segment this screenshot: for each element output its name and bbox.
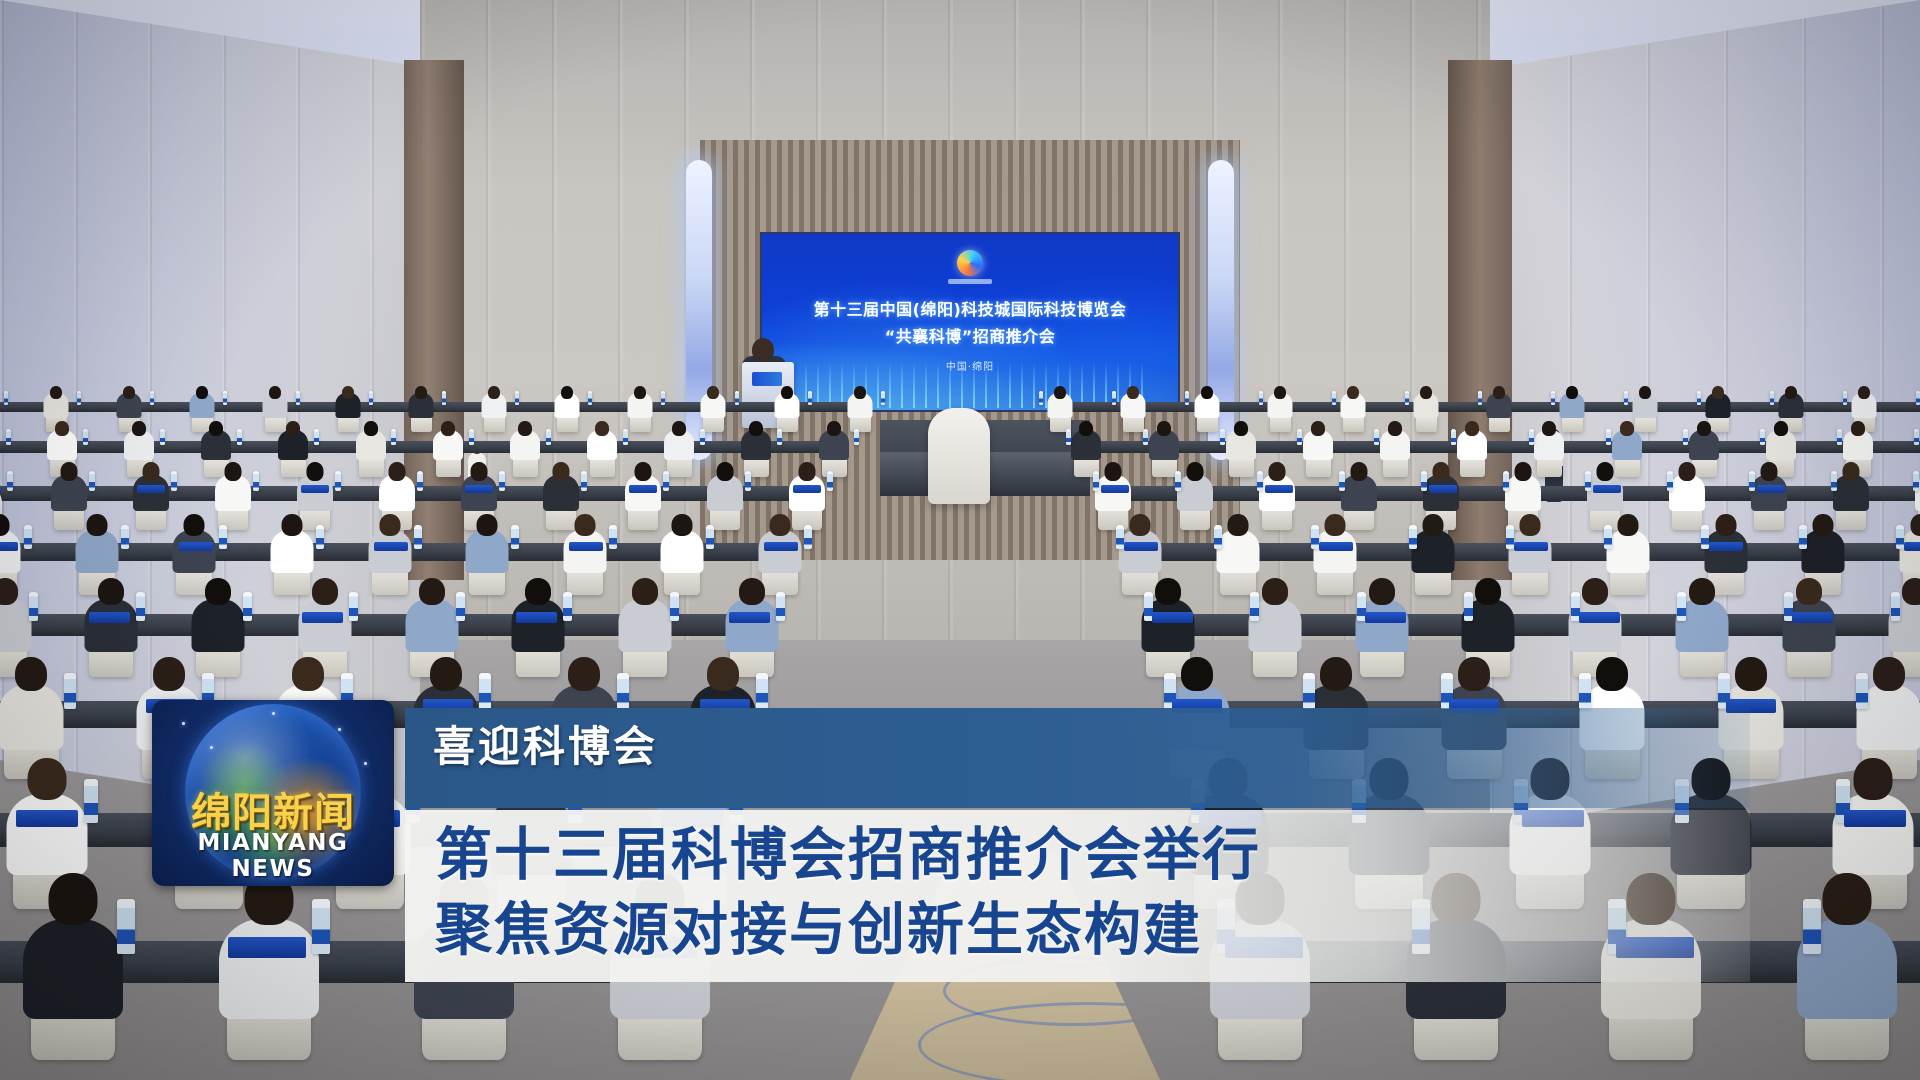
water-bottle — [1677, 592, 1686, 621]
audience-member — [1534, 421, 1564, 466]
screen-title-line1: 第十三届中国(绵阳)科技城国际科技博览会 — [762, 296, 1178, 320]
water-bottle — [160, 429, 165, 445]
table-nameplate — [16, 810, 78, 827]
audience-member — [1149, 421, 1179, 466]
table-nameplate — [1579, 612, 1620, 623]
audience-member — [76, 514, 119, 579]
water-bottle — [1914, 429, 1919, 445]
audience-member — [117, 386, 142, 424]
water-bottle — [1916, 391, 1920, 405]
audience-member — [1195, 386, 1220, 424]
water-bottle — [700, 429, 705, 445]
water-bottle — [456, 592, 465, 621]
table-nameplate — [228, 937, 306, 958]
water-bottle — [29, 592, 38, 621]
audience-member — [51, 462, 87, 517]
screen-location: 中国·绵阳 — [762, 358, 1178, 373]
water-bottle — [121, 525, 129, 549]
water-bottle — [1297, 429, 1302, 445]
water-bottle — [1185, 391, 1189, 405]
audience-member — [1414, 386, 1439, 424]
water-bottle — [136, 592, 145, 621]
water-bottle — [881, 391, 885, 405]
audience-member — [819, 421, 849, 466]
water-bottle — [777, 429, 782, 445]
audience-member — [1779, 386, 1804, 424]
audience-member — [1669, 462, 1705, 517]
audience-member — [44, 386, 69, 424]
table-nameplate — [1709, 542, 1743, 551]
table-nameplate — [0, 542, 18, 551]
water-bottle — [369, 391, 373, 405]
audience-member — [1303, 421, 1333, 466]
broadcast-frame: 第十三届中国(绵阳)科技城国际科技博览会 “共襄科博”招商推介会 中国·绵阳 — [0, 0, 1920, 1080]
audience-member — [379, 462, 415, 517]
water-bottle — [296, 391, 300, 405]
audience-member — [356, 421, 386, 466]
audience-member — [1560, 386, 1585, 424]
audience-member — [543, 462, 579, 517]
water-bottle — [77, 391, 81, 405]
water-bottle — [1799, 525, 1807, 549]
water-bottle — [442, 391, 446, 405]
audience-member — [552, 657, 617, 756]
table-nameplate — [569, 542, 603, 551]
water-bottle — [469, 429, 474, 445]
water-bottle — [1421, 471, 1427, 491]
water-bottle — [623, 429, 628, 445]
kebohui-emblem-icon — [957, 250, 983, 276]
screen-title-line2: “共襄科博”招商推介会 — [762, 323, 1178, 347]
table-nameplate — [1792, 612, 1833, 623]
table-nameplate — [1199, 810, 1261, 827]
water-bottle — [1311, 525, 1319, 549]
audience-member — [406, 578, 459, 658]
audience-member — [263, 386, 288, 424]
table-nameplate — [1514, 542, 1548, 551]
center-aisle-carpet — [850, 850, 1160, 1080]
water-bottle — [24, 525, 32, 549]
water-bottle — [1856, 673, 1868, 709]
water-bottle — [1891, 592, 1900, 621]
water-bottle — [1352, 779, 1366, 823]
table-nameplate — [1429, 485, 1457, 493]
audience-member — [482, 386, 507, 424]
table-nameplate — [629, 485, 657, 493]
table-nameplate — [1225, 937, 1303, 958]
water-bottle — [1683, 429, 1688, 445]
audience-member — [1341, 462, 1377, 517]
table-nameplate — [301, 485, 329, 493]
water-bottle — [745, 471, 751, 491]
water-bottle — [1112, 391, 1116, 405]
water-bottle — [1837, 429, 1842, 445]
water-bottle — [84, 779, 98, 823]
audience-member — [271, 514, 314, 579]
water-bottle — [1259, 391, 1263, 405]
audience-member — [215, 462, 251, 517]
audience-member — [701, 386, 726, 424]
audience-member — [1706, 386, 1731, 424]
water-bottle — [253, 471, 259, 491]
table-nameplate — [1365, 612, 1406, 623]
audience-member — [555, 386, 580, 424]
water-bottle — [314, 429, 319, 445]
table-nameplate — [1265, 485, 1293, 493]
water-bottle — [808, 391, 812, 405]
water-bottle — [1913, 471, 1919, 491]
audience-member — [664, 421, 694, 466]
audience-member — [0, 657, 64, 756]
audience-member — [1607, 514, 1650, 579]
water-bottle — [776, 592, 785, 621]
audience-member — [278, 421, 308, 466]
water-bottle — [4, 391, 8, 405]
audience-member — [1487, 386, 1512, 424]
audience-member — [1121, 386, 1146, 424]
water-bottle — [1451, 429, 1456, 445]
water-bottle — [64, 673, 76, 709]
table-nameplate — [619, 937, 697, 958]
audience-member — [336, 386, 361, 424]
table-nameplate — [302, 612, 343, 623]
water-bottle — [83, 429, 88, 445]
conference-table — [1170, 701, 1920, 728]
table-nameplate — [179, 542, 213, 551]
water-bottle — [1529, 429, 1534, 445]
water-bottle — [1506, 525, 1514, 549]
audience-member — [414, 873, 514, 1025]
water-bottle — [703, 899, 721, 954]
water-bottle — [1116, 525, 1124, 549]
audience-member — [1843, 421, 1873, 466]
audience-member — [466, 514, 509, 579]
audience-member — [491, 758, 572, 881]
water-bottle — [219, 525, 227, 549]
table-nameplate — [1319, 542, 1353, 551]
water-bottle — [508, 899, 526, 954]
water-bottle — [609, 525, 617, 549]
water-bottle — [341, 673, 353, 709]
table-nameplate — [465, 485, 493, 493]
audience-member — [1689, 421, 1719, 466]
table-nameplate — [700, 699, 750, 713]
audience-member — [619, 578, 672, 658]
water-bottle — [1831, 471, 1837, 491]
audience-member — [47, 421, 77, 466]
water-bottle — [1478, 391, 1482, 405]
water-bottle — [1551, 391, 1555, 405]
water-bottle — [581, 471, 587, 491]
water-bottle — [670, 592, 679, 621]
water-bottle — [1701, 525, 1709, 549]
audience-member — [707, 462, 743, 517]
water-bottle — [804, 525, 812, 549]
water-bottle — [1697, 391, 1701, 405]
water-bottle — [479, 673, 491, 709]
audience-member — [1612, 421, 1642, 466]
table-nameplate — [1152, 612, 1193, 623]
audience-member — [433, 421, 463, 466]
audience-member — [124, 421, 154, 466]
water-bottle — [735, 391, 739, 405]
water-bottle — [335, 471, 341, 491]
audience-member — [1633, 386, 1658, 424]
conference-table — [0, 701, 750, 728]
water-bottle — [1220, 429, 1225, 445]
water-bottle — [6, 429, 11, 445]
conference-hall-scene: 第十三届中国(绵阳)科技城国际科技博览会 “共襄科博”招商推介会 中国·绵阳 — [0, 0, 1920, 1080]
water-bottle — [568, 779, 582, 823]
water-bottle — [1803, 899, 1821, 954]
table-nameplate — [338, 810, 400, 827]
audience-member — [1226, 421, 1256, 466]
water-bottle — [827, 471, 833, 491]
audience-member — [775, 386, 800, 424]
audience-member — [1217, 514, 1260, 579]
water-bottle — [414, 525, 422, 549]
water-bottle — [1624, 391, 1628, 405]
water-bottle — [391, 429, 396, 445]
water-bottle — [588, 391, 592, 405]
water-bottle — [1503, 471, 1509, 491]
table-nameplate — [764, 542, 798, 551]
water-bottle — [1303, 673, 1315, 709]
water-bottle — [661, 391, 665, 405]
water-bottle — [1175, 471, 1181, 491]
table-nameplate — [661, 810, 723, 827]
water-bottle — [349, 592, 358, 621]
water-bottle — [150, 391, 154, 405]
water-bottle — [1464, 592, 1473, 621]
audience-member — [1802, 514, 1845, 579]
audience-member — [1341, 386, 1366, 424]
water-bottle — [1579, 673, 1591, 709]
table-nameplate — [1616, 937, 1694, 958]
audience-member — [1766, 421, 1796, 466]
water-bottle — [171, 471, 177, 491]
table-nameplate — [1757, 485, 1785, 493]
water-bottle — [1409, 525, 1417, 549]
water-bottle — [1214, 525, 1222, 549]
water-bottle — [223, 391, 227, 405]
water-bottle — [1760, 429, 1765, 445]
table-nameplate — [1172, 699, 1222, 713]
audience-member — [1177, 462, 1213, 517]
water-bottle — [1749, 471, 1755, 491]
water-bottle — [1257, 471, 1263, 491]
audience-member — [628, 386, 653, 424]
audience-member — [1457, 421, 1487, 466]
water-bottle — [1412, 899, 1430, 954]
audience-member — [848, 386, 873, 424]
table-nameplate — [1904, 542, 1920, 551]
water-bottle — [1896, 525, 1904, 549]
table-nameplate — [1593, 485, 1621, 493]
water-bottle — [515, 391, 519, 405]
water-bottle — [1405, 391, 1409, 405]
table-nameplate — [1522, 810, 1584, 827]
table-nameplate — [137, 485, 165, 493]
water-bottle — [312, 899, 330, 954]
audience-member — [1412, 514, 1455, 579]
audience-member — [23, 873, 123, 1025]
water-bottle — [1604, 525, 1612, 549]
water-bottle — [1667, 471, 1673, 491]
audience-member — [1048, 386, 1073, 424]
water-bottle — [1770, 391, 1774, 405]
audience-member — [201, 421, 231, 466]
water-bottle — [511, 525, 519, 549]
table-nameplate — [1101, 485, 1129, 493]
table-nameplate — [374, 542, 408, 551]
water-bottle — [1339, 471, 1345, 491]
water-bottle — [117, 899, 135, 954]
table-nameplate — [1844, 810, 1906, 827]
water-bottle — [1250, 592, 1259, 621]
water-bottle — [854, 429, 859, 445]
audience-member — [1268, 386, 1293, 424]
audience-member — [169, 758, 250, 881]
audience-member — [409, 386, 434, 424]
water-bottle — [617, 673, 629, 709]
water-bottle — [243, 592, 252, 621]
table-nameplate — [1449, 699, 1499, 713]
audience-member — [190, 386, 215, 424]
audience-area — [0, 380, 1920, 1080]
audience-member — [741, 421, 771, 466]
audience-member — [1380, 421, 1410, 466]
audience-member — [0, 578, 32, 658]
water-bottle — [546, 429, 551, 445]
water-bottle — [1143, 429, 1148, 445]
water-bottle — [417, 471, 423, 491]
table-nameplate — [146, 699, 196, 713]
audience-member — [661, 514, 704, 579]
water-bottle — [1843, 391, 1847, 405]
audience-member — [587, 421, 617, 466]
audience-member — [276, 657, 341, 756]
water-bottle — [1374, 429, 1379, 445]
water-bottle — [663, 471, 669, 491]
water-bottle — [316, 525, 324, 549]
water-bottle — [1093, 471, 1099, 491]
water-bottle — [1585, 471, 1591, 491]
water-bottle — [1066, 429, 1071, 445]
water-bottle — [1606, 429, 1611, 445]
table-nameplate — [793, 485, 821, 493]
water-bottle — [1039, 391, 1043, 405]
water-bottle — [406, 779, 420, 823]
audience-member — [1833, 462, 1869, 517]
emblem-underline — [948, 279, 992, 284]
audience-member — [1852, 386, 1877, 424]
speaker-head — [752, 338, 774, 362]
water-bottle — [1675, 779, 1689, 823]
water-bottle — [89, 471, 95, 491]
water-bottle — [245, 779, 259, 823]
table-nameplate — [1124, 542, 1158, 551]
table-nameplate — [729, 612, 770, 623]
water-bottle — [7, 471, 13, 491]
water-bottle — [202, 673, 214, 709]
water-bottle — [1332, 391, 1336, 405]
table-nameplate — [89, 612, 130, 623]
water-bottle — [756, 673, 768, 709]
water-bottle — [499, 471, 505, 491]
audience-member — [510, 421, 540, 466]
water-bottle — [563, 592, 572, 621]
table-nameplate — [516, 612, 557, 623]
table-nameplate — [1726, 699, 1776, 713]
table-nameplate — [423, 699, 473, 713]
audience-member — [1505, 462, 1541, 517]
water-bottle — [729, 779, 743, 823]
water-bottle — [706, 525, 714, 549]
water-bottle — [237, 429, 242, 445]
audience-member — [192, 578, 245, 658]
audience-member — [1071, 421, 1101, 466]
